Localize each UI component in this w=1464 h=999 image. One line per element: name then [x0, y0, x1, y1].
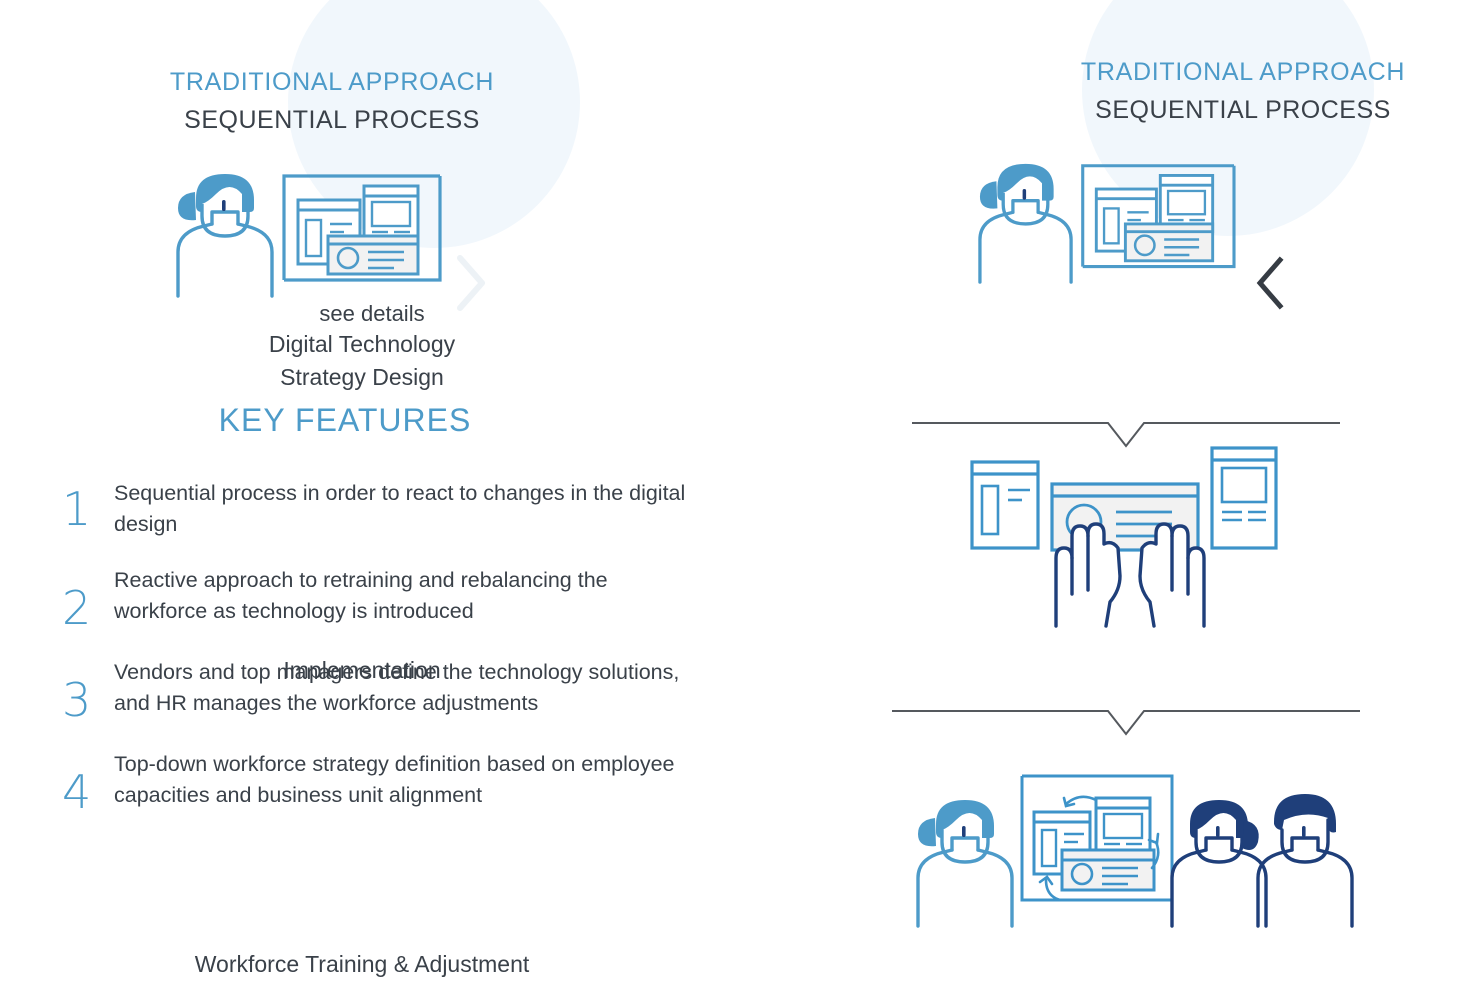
key-features-title: KEY FEATURES — [0, 402, 690, 439]
feature-item-1: 1 Sequential process in order to react t… — [62, 476, 702, 539]
feature-item-3: 3 Vendors and top managers define the te… — [62, 655, 702, 723]
left-header-secondary: SEQUENTIAL PROCESS — [0, 104, 664, 137]
feature-number: 1 — [62, 476, 114, 532]
chevron-right-icon[interactable] — [452, 252, 492, 314]
left-header-primary: TRADITIONAL APPROACH — [0, 66, 664, 98]
feature-text: Sequential process in order to react to … — [114, 476, 702, 539]
key-features-list: 1 Sequential process in order to react t… — [62, 476, 702, 839]
person-with-screens-icon — [168, 168, 448, 300]
right-header-secondary: SEQUENTIAL PROCESS — [978, 94, 1464, 127]
feature-number: 2 — [62, 563, 114, 631]
feature-item-4: 4 Top-down workforce strategy definition… — [62, 747, 702, 815]
feature-text: Reactive approach to retraining and reba… — [114, 563, 702, 626]
right-header-primary: TRADITIONAL APPROACH — [978, 56, 1464, 88]
feature-text: Vendors and top managers define the tech… — [114, 655, 702, 718]
left-panel: TRADITIONAL APPROACH SEQUENTIAL PROCESS — [0, 0, 740, 999]
feature-number: 4 — [62, 747, 114, 815]
feature-number: 3 — [62, 655, 114, 723]
right-panel-header: TRADITIONAL APPROACH SEQUENTIAL PROCESS — [978, 56, 1464, 127]
feature-text: Top-down workforce strategy definition b… — [114, 747, 702, 810]
feature-item-2: 2 Reactive approach to retraining and re… — [62, 563, 702, 631]
right-panel: TRADITIONAL APPROACH SEQUENTIAL PROCESS — [740, 0, 1464, 999]
left-panel-header: TRADITIONAL APPROACH SEQUENTIAL PROCESS — [0, 66, 664, 137]
